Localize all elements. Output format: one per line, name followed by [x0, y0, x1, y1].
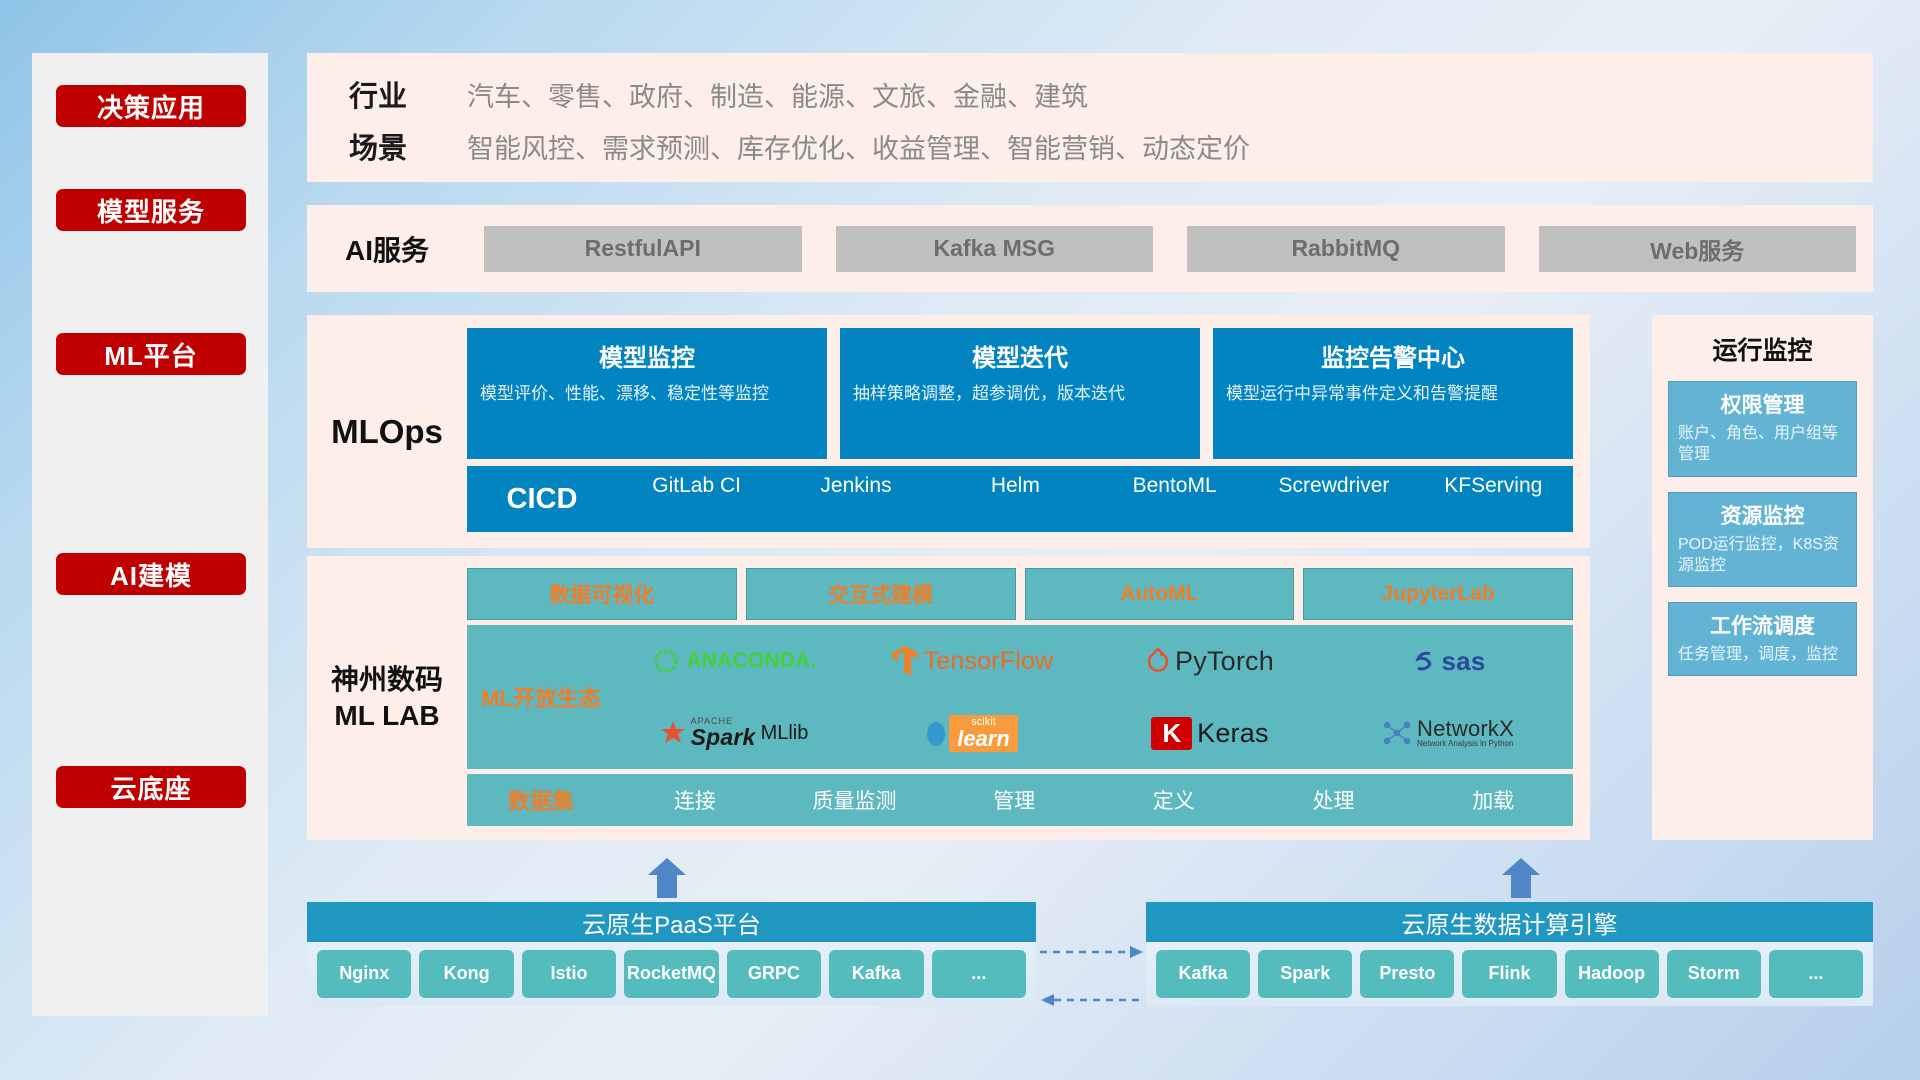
cloud-chip-istio[interactable]: Istio	[522, 950, 616, 998]
ml-lab-label-line1: 神州数码	[331, 662, 443, 698]
ml-lab-tab-list: 数据可视化 交互式建模 AutoML JupyterLab	[467, 568, 1573, 620]
scenario-key: 场景	[349, 125, 467, 167]
cloud-chip-grpc[interactable]: GRPC	[727, 950, 821, 998]
cloud-paas-group: 云原生PaaS平台 Nginx Kong Istio RocketMQ GRPC…	[307, 902, 1036, 1006]
cicd-item-kfserving[interactable]: KFServing	[1414, 473, 1573, 525]
up-arrow-paas-icon	[646, 858, 688, 898]
keras-logo-text: Keras	[1197, 718, 1269, 749]
sas-logo-text: sas	[1442, 646, 1486, 677]
layer-label-rail: 决策应用 模型服务 ML平台 AI建模 云底座	[32, 53, 268, 1016]
ml-lab-tab-automl[interactable]: AutoML	[1025, 568, 1295, 620]
ml-lab-band: 神州数码 ML LAB 数据可视化 交互式建模 AutoML JupyterLa…	[307, 556, 1590, 840]
ops-monitor-card-desc: 账户、角色、用户组等管理	[1678, 423, 1847, 466]
ml-lab-label: 神州数码 ML LAB	[307, 556, 467, 840]
mlops-label: MLOps	[307, 315, 467, 548]
mlops-card-model-monitor[interactable]: 模型监控 模型评价、性能、漂移、稳定性等监控	[467, 328, 827, 459]
cicd-item-screwdriver[interactable]: Screwdriver	[1254, 473, 1413, 525]
ml-lab-tab-interactive-modeling[interactable]: 交互式建模	[746, 568, 1016, 620]
cloud-data-engine-chip-list: Kafka Spark Presto Flink Hadoop Storm ..…	[1146, 942, 1873, 1006]
ai-service-item-web[interactable]: Web服务	[1539, 226, 1857, 272]
ai-service-item-kafka-msg[interactable]: Kafka MSG	[836, 226, 1154, 272]
cicd-item-bentoml[interactable]: BentoML	[1095, 473, 1254, 525]
dashed-arrow-right-icon	[1040, 944, 1144, 960]
industry-key: 行业	[349, 73, 467, 115]
ops-monitor-card-title: 工作流调度	[1678, 610, 1847, 640]
cloud-chip-rocketmq[interactable]: RocketMQ	[624, 950, 718, 998]
pytorch-logo-text: PyTorch	[1175, 646, 1274, 677]
cloud-chip-kafka[interactable]: Kafka	[1156, 950, 1250, 998]
cloud-chip-kong[interactable]: Kong	[419, 950, 513, 998]
cloud-data-engine-title: 云原生数据计算引擎	[1146, 902, 1873, 942]
ops-monitor-card-title: 资源监控	[1678, 500, 1847, 530]
mllib-logo-text: MLlib	[761, 722, 809, 745]
mlops-card-model-iteration[interactable]: 模型迭代 抽样策略调整，超参调优，版本迭代	[840, 328, 1200, 459]
ops-monitor-card-title: 权限管理	[1678, 389, 1847, 419]
cicd-title: CICD	[467, 483, 617, 516]
dataset-item-load[interactable]: 加载	[1413, 785, 1573, 815]
cloud-chip-more[interactable]: ...	[932, 950, 1026, 998]
cicd-item-gitlab-ci[interactable]: GitLab CI	[617, 473, 776, 525]
cloud-chip-nginx[interactable]: Nginx	[317, 950, 411, 998]
cicd-item-jenkins[interactable]: Jenkins	[776, 473, 935, 525]
cicd-bar: CICD GitLab CI Jenkins Helm BentoML Scre…	[467, 466, 1573, 532]
mlops-band: MLOps 模型监控 模型评价、性能、漂移、稳定性等监控 模型迭代 抽样策略调整…	[307, 315, 1590, 548]
learn-logo-text: learn	[957, 728, 1010, 750]
cloud-paas-chip-list: Nginx Kong Istio RocketMQ GRPC Kafka ...	[307, 942, 1036, 1006]
cloud-data-engine-group: 云原生数据计算引擎 Kafka Spark Presto Flink Hadoo…	[1146, 902, 1873, 1006]
layer-tag-ai-modeling[interactable]: AI建模	[56, 553, 246, 595]
cloud-chip-more[interactable]: ...	[1769, 950, 1863, 998]
ops-monitor-card-workflow[interactable]: 工作流调度 任务管理，调度，监控	[1668, 602, 1857, 676]
spark-mllib-logo: APACHE Spark MLlib	[660, 717, 809, 749]
ai-service-band: AI服务 RestfulAPI Kafka MSG RabbitMQ Web服务	[307, 205, 1873, 292]
ml-ecosystem-label: ML开放生态	[467, 681, 615, 713]
cloud-paas-title: 云原生PaaS平台	[307, 902, 1036, 942]
cloud-chip-flink[interactable]: Flink	[1462, 950, 1556, 998]
mlops-card-title: 监控告警中心	[1226, 338, 1560, 373]
mlops-card-list: 模型监控 模型评价、性能、漂移、稳定性等监控 模型迭代 抽样策略调整，超参调优，…	[467, 328, 1573, 459]
industry-value: 汽车、零售、政府、制造、能源、文旅、金融、建筑	[467, 75, 1088, 114]
mlops-card-desc: 模型评价、性能、漂移、稳定性等监控	[480, 382, 814, 405]
networkx-logo: NetworkX Network Analysis in Python	[1382, 717, 1514, 748]
mlops-card-title: 模型迭代	[853, 338, 1187, 373]
cloud-chip-storm[interactable]: Storm	[1667, 950, 1761, 998]
mlops-content: 模型监控 模型评价、性能、漂移、稳定性等监控 模型迭代 抽样策略调整，超参调优，…	[467, 315, 1590, 548]
pytorch-logo: PyTorch	[1146, 646, 1274, 677]
networkx-logo-text: NetworkX	[1417, 717, 1514, 740]
cloud-chip-presto[interactable]: Presto	[1360, 950, 1454, 998]
networkx-logo-sub: Network Analysis in Python	[1417, 740, 1514, 748]
industry-scenario-band: 行业 汽车、零售、政府、制造、能源、文旅、金融、建筑 场景 智能风控、需求预测、…	[307, 53, 1873, 182]
anaconda-logo: ANACONDA.	[651, 646, 816, 676]
ml-lab-tab-data-visualization[interactable]: 数据可视化	[467, 568, 737, 620]
ai-service-item-rabbitmq[interactable]: RabbitMQ	[1187, 226, 1505, 272]
cloud-chip-hadoop[interactable]: Hadoop	[1565, 950, 1659, 998]
dataset-item-connect[interactable]: 连接	[615, 785, 775, 815]
ml-lab-content: 数据可视化 交互式建模 AutoML JupyterLab ML开放生态 ANA…	[467, 556, 1590, 840]
scenario-value: 智能风控、需求预测、库存优化、收益管理、智能营销、动态定价	[467, 127, 1250, 166]
ai-service-item-restfulapi[interactable]: RestfulAPI	[484, 226, 802, 272]
keras-logo-badge: K	[1151, 717, 1192, 750]
anaconda-logo-text: ANACONDA.	[686, 649, 816, 673]
dataset-item-quality[interactable]: 质量监测	[775, 785, 935, 815]
sas-logo: sas	[1411, 646, 1486, 677]
scikit-learn-logo: scikit learn	[926, 715, 1018, 752]
cloud-chip-spark[interactable]: Spark	[1258, 950, 1352, 998]
mlops-card-desc: 抽样策略调整，超参调优，版本迭代	[853, 382, 1187, 405]
dataset-item-define[interactable]: 定义	[1094, 785, 1254, 815]
scenario-row: 场景 智能风控、需求预测、库存优化、收益管理、智能营销、动态定价	[349, 125, 1250, 167]
layer-tag-ml-platform[interactable]: ML平台	[56, 333, 246, 375]
layer-tag-model-service[interactable]: 模型服务	[56, 189, 246, 231]
dataset-item-process[interactable]: 处理	[1254, 785, 1414, 815]
ml-lab-label-line2: ML LAB	[334, 698, 439, 734]
cicd-item-helm[interactable]: Helm	[936, 473, 1095, 525]
ops-monitor-card-permission[interactable]: 权限管理 账户、角色、用户组等管理	[1668, 381, 1857, 477]
ops-monitor-panel: 运行监控 权限管理 账户、角色、用户组等管理 资源监控 POD运行监控，K8S资…	[1652, 315, 1873, 840]
dataset-label: 数据集	[467, 784, 615, 816]
ml-ecosystem-logo-grid: ANACONDA. TensorFlow PyTorch	[615, 625, 1573, 769]
ai-service-label: AI服务	[307, 229, 467, 269]
spark-logo-text: Spark	[691, 726, 756, 749]
mlops-card-title: 模型监控	[480, 338, 814, 373]
mlops-card-desc: 模型运行中异常事件定义和告警提醒	[1226, 382, 1560, 405]
ml-lab-tab-jupyterlab[interactable]: JupyterLab	[1303, 568, 1573, 620]
tensorflow-logo-text: TensorFlow	[924, 647, 1054, 676]
ops-monitor-card-resource[interactable]: 资源监控 POD运行监控，K8S资源监控	[1668, 492, 1857, 588]
keras-logo: K Keras	[1151, 717, 1268, 750]
cloud-chip-kafka[interactable]: Kafka	[829, 950, 923, 998]
industry-row: 行业 汽车、零售、政府、制造、能源、文旅、金融、建筑	[349, 73, 1088, 115]
dataset-row: 数据集 连接 质量监测 管理 定义 处理 加载	[467, 774, 1573, 826]
mlops-card-alert-center[interactable]: 监控告警中心 模型运行中异常事件定义和告警提醒	[1213, 328, 1573, 459]
layer-tag-decision-app[interactable]: 决策应用	[56, 85, 246, 127]
ops-monitor-card-desc: 任务管理，调度，监控	[1678, 644, 1847, 665]
dashed-arrow-left-icon	[1040, 992, 1144, 1008]
ops-monitor-title: 运行监控	[1668, 331, 1857, 367]
tensorflow-logo: TensorFlow	[891, 645, 1054, 677]
layer-tag-cloud-base[interactable]: 云底座	[56, 766, 246, 808]
up-arrow-data-engine-icon	[1500, 858, 1542, 898]
ops-monitor-card-desc: POD运行监控，K8S资源监控	[1678, 534, 1847, 577]
dataset-item-manage[interactable]: 管理	[934, 785, 1094, 815]
ml-ecosystem-row: ML开放生态 ANACONDA. TensorFlow	[467, 625, 1573, 769]
